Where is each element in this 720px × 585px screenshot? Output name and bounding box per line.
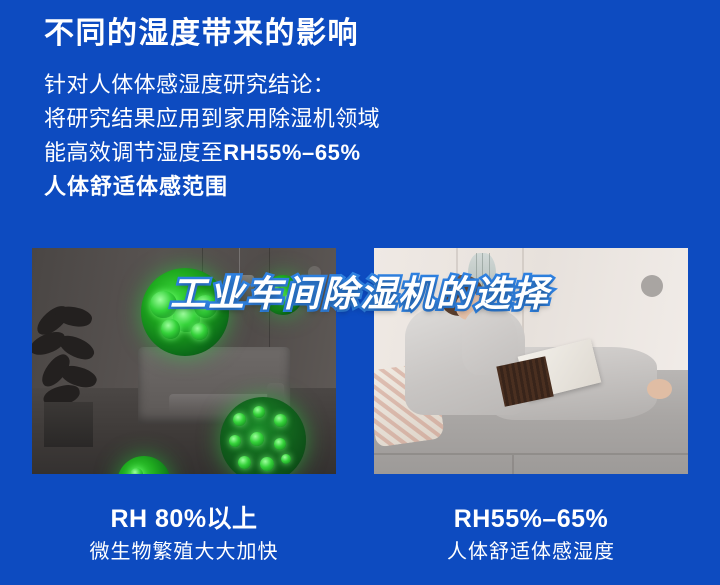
intro-line-2: 将研究结果应用到家用除湿机领域 [44, 102, 684, 136]
intro-line-4: 人体舒适体感范围 [44, 170, 684, 204]
caption-right-value: RH55%–65% [374, 503, 688, 535]
caption-left: RH 80%以上 微生物繁殖大大加快 [32, 503, 336, 567]
caption-left-description: 微生物繁殖大大加快 [32, 537, 336, 567]
houseplant-pot [44, 402, 93, 447]
caption-left-value: RH 80%以上 [32, 503, 336, 535]
caption-right: RH55%–65% 人体舒适体感湿度 [374, 503, 688, 567]
overlay-headline: 工业车间除湿机的选择 [0, 272, 720, 316]
houseplant-leaves [32, 307, 114, 411]
sofa-seam [374, 453, 688, 455]
intro-line-3-text: 能高效调节湿度至 [44, 140, 223, 165]
page-title: 不同的湿度带来的影响 [44, 14, 684, 54]
caption-right-description: 人体舒适体感湿度 [374, 537, 688, 567]
intro-line-1: 针对人体体感湿度研究结论： [44, 68, 684, 102]
intro-line-3: 能高效调节湿度至RH55%–65% [44, 136, 684, 170]
intro-paragraph: 针对人体体感湿度研究结论： 将研究结果应用到家用除湿机领域 能高效调节湿度至RH… [44, 68, 684, 204]
intro-line-3-emphasis: RH55%–65% [223, 140, 360, 165]
sofa-seam [512, 455, 514, 474]
poster-canvas: 不同的湿度带来的影响 针对人体体感湿度研究结论： 将研究结果应用到家用除湿机领域… [0, 0, 720, 585]
header-block: 不同的湿度带来的影响 针对人体体感湿度研究结论： 将研究结果应用到家用除湿机领域… [44, 14, 684, 204]
